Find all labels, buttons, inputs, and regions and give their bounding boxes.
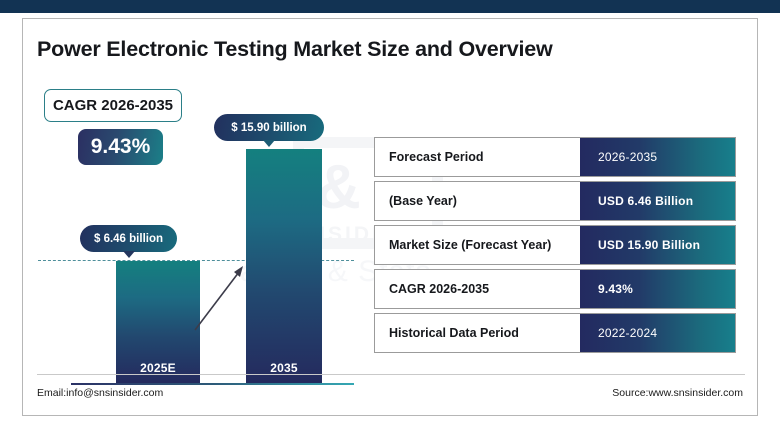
market-summary-table: Forecast Period 2026-2035 (Base Year) US… [374,137,736,357]
cagr-label-text: CAGR 2026-2035 [53,97,173,114]
table-row-label: Forecast Period [375,138,580,176]
footer-source: Source:www.snsinsider.com [612,387,743,399]
table-row-label: (Base Year) [375,182,580,220]
bar-label-2025e: 2025E [116,361,200,375]
table-row-value: 9.43% [580,270,735,308]
content-panel: & INSIDER ategy & Stats Power Electronic… [22,18,758,416]
bar-2025e: 2025E [116,261,200,383]
table-row-value: 2022-2024 [580,314,735,352]
table-row: Historical Data Period 2022-2024 [374,313,736,353]
table-row-label: CAGR 2026-2035 [375,270,580,308]
table-row-value: 2026-2035 [580,138,735,176]
footer-divider [37,374,745,375]
table-row: (Base Year) USD 6.46 Billion [374,181,736,221]
watermark-ampersand: & [316,157,361,219]
cagr-value-text: 9.43% [91,135,151,159]
table-row: Forecast Period 2026-2035 [374,137,736,177]
table-row-value: USD 6.46 Billion [580,182,735,220]
value-pill-2035-text: $ 15.90 billion [231,122,306,134]
growth-arrow-icon [191,262,251,334]
cagr-label-box: CAGR 2026-2035 [44,89,182,122]
table-row: CAGR 2026-2035 9.43% [374,269,736,309]
infographic-page: & INSIDER ategy & Stats Power Electronic… [0,0,780,433]
bar-label-2035: 2035 [246,361,322,375]
chart-baseline-axis [71,383,354,385]
value-pill-2035: $ 15.90 billion [214,114,324,141]
footer-email: Email:info@snsinsider.com [37,387,163,399]
value-pill-2025: $ 6.46 billion [80,225,177,252]
cagr-value-badge: 9.43% [78,129,163,165]
table-row-label: Historical Data Period [375,314,580,352]
value-pill-2025-text: $ 6.46 billion [94,233,163,245]
table-row-label: Market Size (Forecast Year) [375,226,580,264]
table-row: Market Size (Forecast Year) USD 15.90 Bi… [374,225,736,265]
table-row-value: USD 15.90 Billion [580,226,735,264]
top-accent-strip [0,0,780,13]
page-title: Power Electronic Testing Market Size and… [37,37,553,62]
bar-2035: 2035 [246,149,322,383]
